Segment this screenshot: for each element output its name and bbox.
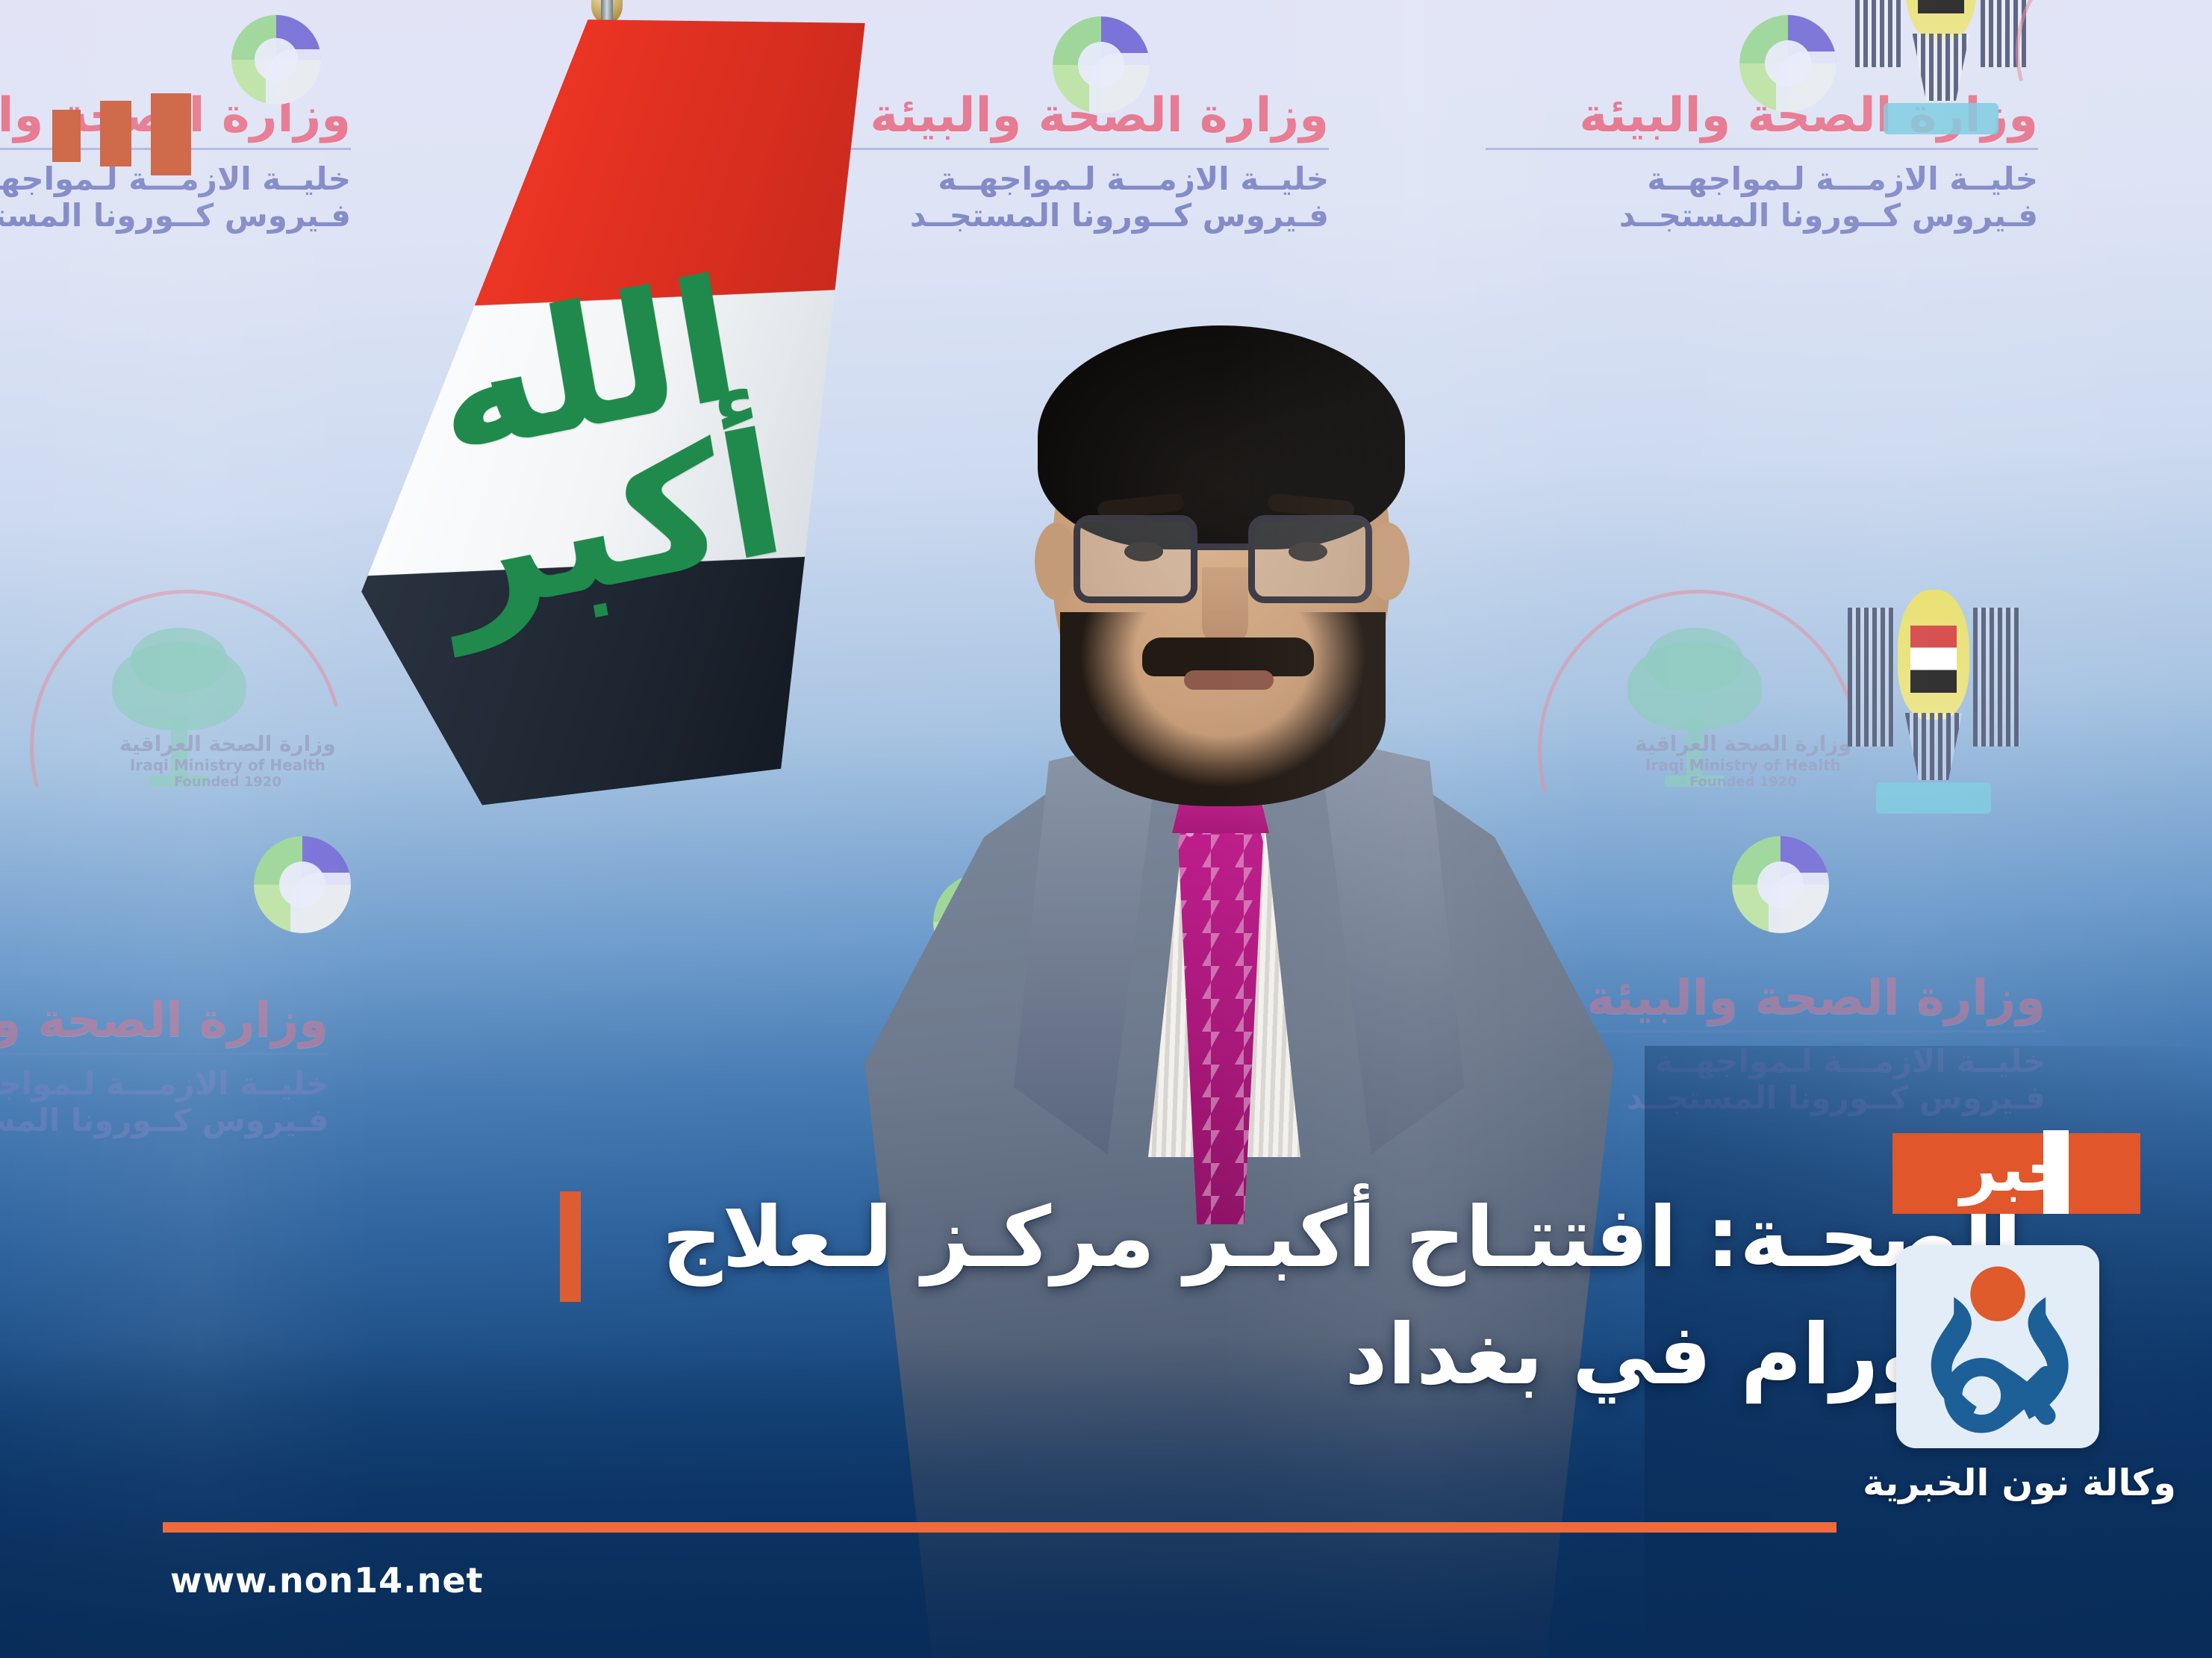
ministry-swirl-icon-3 <box>1739 15 1836 112</box>
ministry-title-low-left: وزارة الصحة والبيئة <box>0 993 328 1048</box>
banner-divider <box>0 1053 328 1055</box>
crisis-cell-line-center: خليــة الازمـــة لـمواجهــة <box>791 160 1329 197</box>
covid-line-left: فـيروس كــورونا المستجــد <box>0 197 351 234</box>
headline: الصحـة: افتتـاح أكبـر مركـز لـعلاج الأور… <box>446 1179 2022 1414</box>
news-badge-white-bar <box>2043 1130 2069 1214</box>
bar-2 <box>100 101 131 166</box>
covid-line-center: فـيروس كــورونا المستجــد <box>791 197 1329 234</box>
news-badge: خبر <box>1892 1133 2140 1214</box>
covid-line-low-left: فـيروس كــورونا المستجــد <box>0 1102 328 1138</box>
banner-divider <box>1486 148 2038 150</box>
orange-divider-rule <box>163 1522 1836 1533</box>
spokesperson-portrait <box>814 321 1665 1658</box>
covid-line-right: فـيروس كــورونا المستجــد <box>1486 197 2038 234</box>
iraq-coat-of-arms-icon-1 <box>1851 0 2031 134</box>
ministry-swirl-icon-1 <box>231 15 321 105</box>
crisis-cell-line-right: خليــة الازمـــة لـمواجهــة <box>1486 160 2038 197</box>
ministry-swirl-icon-4 <box>254 836 351 933</box>
noon-agency-logo-icon <box>1896 1245 2099 1448</box>
ministry-swirl-icon-6 <box>1732 836 1829 933</box>
iraq-flag-icon: الله أكبر <box>338 7 866 811</box>
banner-divider <box>791 148 1329 150</box>
eyeglasses-icon <box>1074 508 1372 612</box>
ear-right <box>1366 523 1409 600</box>
glasses-bridge <box>1197 543 1251 550</box>
three-bars-mark-icon <box>52 93 191 175</box>
bar-3 <box>52 110 81 162</box>
bar-1 <box>151 93 191 175</box>
agency-name: وكالة نون الخبرية <box>1844 1462 2195 1504</box>
noon-agency-logo[interactable] <box>1896 1245 2099 1448</box>
lens-left <box>1074 515 1197 603</box>
news-card: وزارة الصحة والبيئة خليــة الازمـــة لـم… <box>0 0 2212 1658</box>
headline-line-2: الأورام في بغداد <box>446 1297 2022 1414</box>
banner-text-block-low-left: وزارة الصحة والبيئة خليــة الازمـــة لـم… <box>0 993 328 1138</box>
iraq-coat-of-arms-icon-2 <box>1844 590 2023 814</box>
flag-takbir-text: الله أكبر <box>362 248 837 646</box>
ear-left <box>1035 523 1078 600</box>
ministry-swirl-icon-2 <box>1053 16 1150 113</box>
lips <box>1184 670 1274 690</box>
lens-right <box>1248 515 1372 603</box>
crisis-cell-line-low-left: خليــة الازمـــة لـمواجهــة <box>0 1065 328 1102</box>
website-url[interactable]: www.non14.net <box>170 1560 484 1601</box>
banner-text-block-center: وزارة الصحة والبيئة خليــة الازمـــة لـم… <box>791 88 1329 234</box>
headline-line-1: الصحـة: افتتـاح أكبـر مركـز لـعلاج <box>446 1179 2022 1297</box>
ministry-title-center: وزارة الصحة والبيئة <box>791 88 1329 143</box>
